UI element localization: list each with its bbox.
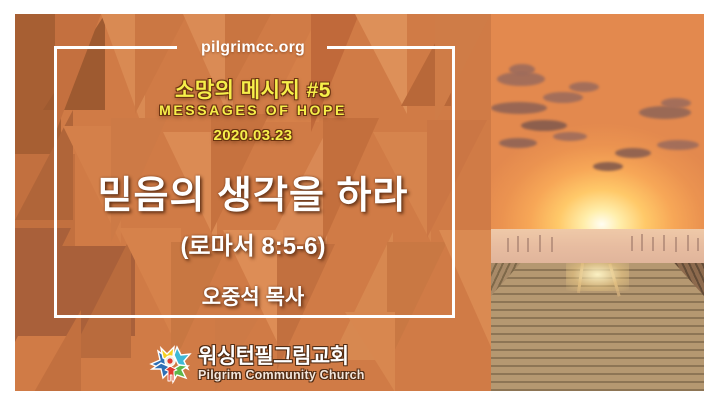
sermon-date: 2020.03.23 <box>15 127 491 144</box>
water-post <box>517 236 519 252</box>
pilgrim-star-people-logo-icon <box>147 342 193 386</box>
site-url: pilgrimcc.org <box>15 39 491 57</box>
cloud <box>593 162 623 171</box>
series-title-korean: 소망의 메시지 #5 <box>15 74 491 104</box>
church-logo-text: 워싱턴필그림교회 Pilgrim Community Church <box>198 346 365 382</box>
bg-triangle <box>33 310 81 391</box>
water-post <box>631 236 633 251</box>
water-post <box>507 238 509 252</box>
cloud <box>657 140 699 150</box>
series-title-english: MESSAGES OF HOPE <box>15 102 491 118</box>
left-orange-panel: pilgrimcc.org 소망의 메시지 #5 MESSAGES OF HOP… <box>15 14 491 391</box>
water-post <box>663 235 665 251</box>
cloud <box>661 98 691 108</box>
water-post <box>675 237 677 252</box>
water-post <box>687 235 689 251</box>
church-name-korean: 워싱턴필그림교회 <box>198 346 365 367</box>
sermon-slide: pilgrimcc.org 소망의 메시지 #5 MESSAGES OF HOP… <box>0 0 720 405</box>
sermon-title: 믿음의 생각을 하라 <box>15 164 491 219</box>
frame-bottom-segment <box>54 315 455 318</box>
speaker-name: 오중석 목사 <box>15 281 491 311</box>
cloud <box>553 132 587 141</box>
sun-glow-on-dock <box>566 263 630 291</box>
wooden-dock <box>491 263 704 391</box>
water-post <box>641 234 643 251</box>
water-post <box>551 237 553 252</box>
water-post <box>539 235 541 252</box>
slide-content: pilgrimcc.org 소망의 메시지 #5 MESSAGES OF HOP… <box>15 14 704 391</box>
church-name-english: Pilgrim Community Church <box>198 369 365 382</box>
water-post <box>697 238 699 251</box>
cloud <box>543 92 583 103</box>
cloud <box>521 120 567 131</box>
water-post <box>652 237 654 251</box>
scripture-reference: (로마서 8:5-6) <box>15 226 491 261</box>
cloud <box>569 82 599 92</box>
water-post <box>527 238 529 252</box>
cloud <box>615 148 651 158</box>
cloud <box>491 102 547 114</box>
cloud <box>509 64 535 75</box>
sunset-dock-photo <box>491 14 704 391</box>
church-logo: 워싱턴필그림교회 Pilgrim Community Church <box>147 340 387 388</box>
cloud <box>639 106 691 119</box>
cloud <box>499 138 537 148</box>
